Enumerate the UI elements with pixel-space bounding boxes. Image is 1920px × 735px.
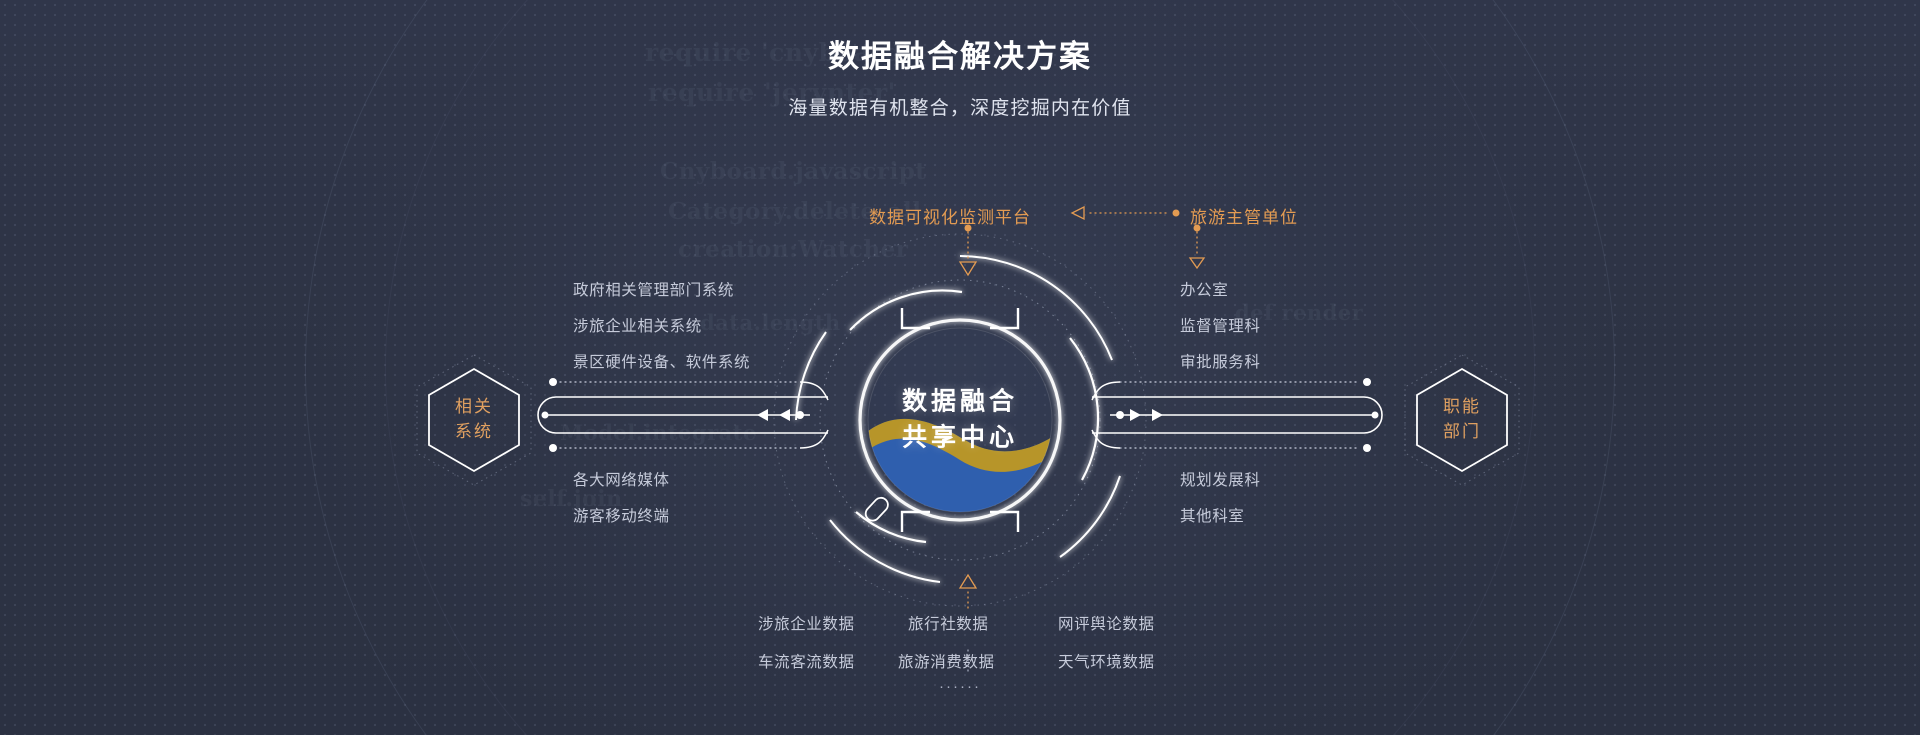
left-rail-end-dot	[542, 412, 549, 419]
right-rail-dot	[1116, 411, 1124, 419]
page-title: 数据融合解决方案	[0, 38, 1920, 77]
left-feed-dot-lower	[549, 444, 557, 452]
right-feed-dot-lower	[1363, 444, 1371, 452]
authority-down-dot	[1194, 225, 1201, 232]
right-arrow-1	[1130, 409, 1141, 421]
page-subtitle: 海量数据有机整合，深度挖掘内在价值	[0, 93, 1920, 120]
page-header: 数据融合解决方案 海量数据有机整合，深度挖掘内在价值	[0, 38, 1920, 120]
left-rail-dot	[796, 411, 804, 419]
platform-down-dot	[965, 225, 972, 232]
right-rail-end-dot	[1372, 412, 1379, 419]
right-feed-dot-upper	[1363, 378, 1371, 386]
authority-down-arrow	[1190, 258, 1204, 268]
left-arrow-2	[757, 409, 768, 421]
left-arrow-1	[779, 409, 790, 421]
left-feed-dot-upper	[549, 378, 557, 386]
top-link-dot	[1173, 210, 1180, 217]
right-arrow-2	[1152, 409, 1163, 421]
platform-down-arrow	[960, 262, 976, 275]
bottom-link-arrow	[960, 575, 976, 588]
top-link-arrow	[1072, 207, 1084, 219]
